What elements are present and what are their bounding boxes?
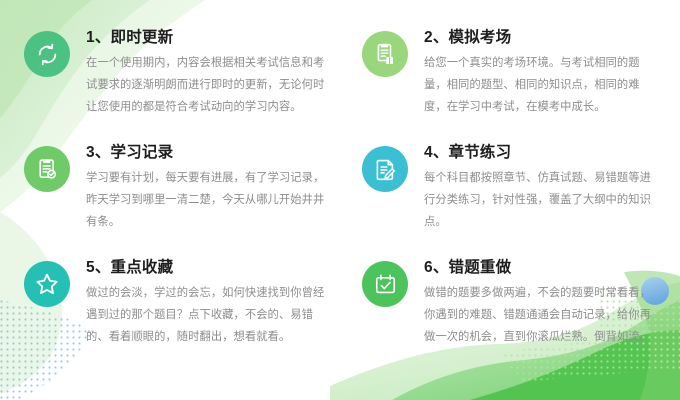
calendar-check-icon [362,261,408,307]
feature-title: 6、错题重做 [424,258,662,277]
feature-text-block: 5、重点收藏 做过的会淡，学过的会忘，如何快速找到你曾经遇到过的那个题目？点下收… [86,258,326,348]
feature-text-block: 2、模拟考场 给您一个真实的考场环境。与考试相同的题量，相同的题型、相同的知识点… [424,28,662,118]
feature-list-page: 1、即时更新 在一个使用期内，内容会根据相关考试信息和考试要求的逐渐明朗而进行即… [0,0,680,400]
refresh-sync-icon [24,31,70,77]
feature-item-6[interactable]: 6、错题重做 做错的题要多做两遍，不会的题要时常看看，你遇到的难题、错题通通会自… [340,258,680,388]
feature-description: 在一个使用期内，内容会根据相关考试信息和考试要求的逐渐明朗而进行即时的更新，无论… [86,53,326,118]
feature-description: 给您一个真实的考场环境。与考试相同的题量，相同的题型、相同的知识点，相同的难度，… [424,53,662,118]
feature-item-3[interactable]: 3、学习记录 学习要有计划，每天要有进展，有了学习记录，昨天学习到哪里一清二楚，… [0,143,340,258]
feature-description: 每个科目都按照章节、仿真试题、易错题等进行分类练习，针对性强，覆盖了大纲中的知识… [424,168,662,233]
feature-item-2[interactable]: 2、模拟考场 给您一个真实的考场环境。与考试相同的题量，相同的题型、相同的知识点… [340,28,680,143]
feature-description: 做错的题要多做两遍，不会的题要时常看看，你遇到的难题、错题通通会自动记录，给你再… [424,283,662,348]
feature-text-block: 3、学习记录 学习要有计划，每天要有进展，有了学习记录，昨天学习到哪里一清二楚，… [86,143,326,233]
feature-item-5[interactable]: 5、重点收藏 做过的会淡，学过的会忘，如何快速找到你曾经遇到过的那个题目？点下收… [0,258,340,388]
feature-description: 做过的会淡，学过的会忘，如何快速找到你曾经遇到过的那个题目？点下收藏，不会的、易… [86,283,326,348]
feature-title: 4、章节练习 [424,143,662,162]
feature-title: 5、重点收藏 [86,258,326,277]
feature-grid: 1、即时更新 在一个使用期内，内容会根据相关考试信息和考试要求的逐渐明朗而进行即… [0,0,680,400]
star-favorite-icon [24,261,70,307]
feature-title: 3、学习记录 [86,143,326,162]
feature-item-1[interactable]: 1、即时更新 在一个使用期内，内容会根据相关考试信息和考试要求的逐渐明朗而进行即… [0,28,340,143]
clipboard-check-icon [24,146,70,192]
document-pencil-icon [362,146,408,192]
feature-item-4[interactable]: 4、章节练习 每个科目都按照章节、仿真试题、易错题等进行分类练习，针对性强，覆盖… [340,143,680,258]
feature-text-block: 1、即时更新 在一个使用期内，内容会根据相关考试信息和考试要求的逐渐明朗而进行即… [86,28,326,118]
feature-text-block: 6、错题重做 做错的题要多做两遍，不会的题要时常看看，你遇到的难题、错题通通会自… [424,258,662,348]
feature-title: 1、即时更新 [86,28,326,47]
feature-title: 2、模拟考场 [424,28,662,47]
feature-text-block: 4、章节练习 每个科目都按照章节、仿真试题、易错题等进行分类练习，针对性强，覆盖… [424,143,662,233]
feature-description: 学习要有计划，每天要有进展，有了学习记录，昨天学习到哪里一清二楚，今天从哪儿开始… [86,168,326,233]
exam-paper-icon [362,31,408,77]
